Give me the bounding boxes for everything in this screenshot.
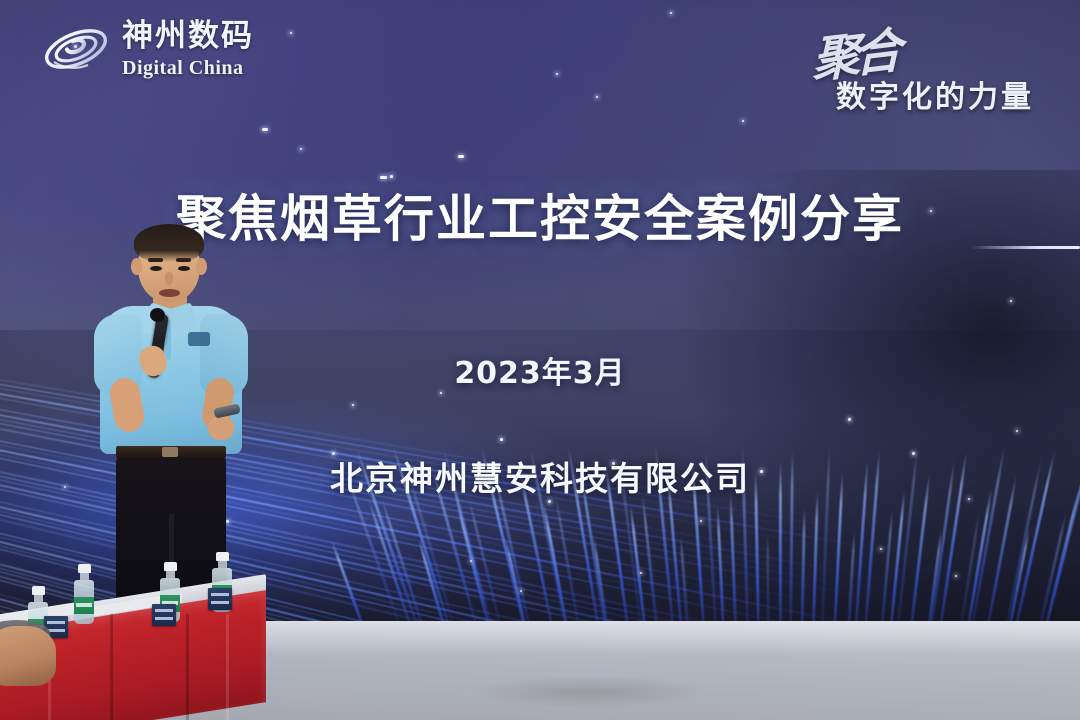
cloth-fold	[226, 614, 229, 720]
speaker-ear-left	[131, 258, 142, 275]
speaker-nose	[165, 272, 173, 285]
water-bottle	[74, 564, 94, 624]
event-tagline: 数字化的力量	[836, 72, 1034, 116]
speaker-mouth	[159, 289, 180, 297]
light-particle	[300, 148, 302, 150]
bottle-neck	[34, 595, 43, 602]
light-streak	[729, 492, 738, 630]
bottle-cap	[78, 564, 91, 573]
digital-china-wordmark: 神州数码 Digital China	[122, 21, 254, 78]
name-card	[208, 588, 232, 610]
light-streak	[800, 507, 806, 630]
light-particle	[458, 155, 464, 158]
light-particle	[290, 32, 292, 34]
bottle-label	[74, 597, 94, 614]
light-particle	[440, 392, 442, 394]
light-streak	[716, 505, 726, 630]
cloth-fold	[110, 614, 113, 720]
light-particle	[556, 73, 558, 75]
name-card	[152, 604, 176, 626]
speaker-brow-left	[148, 258, 163, 262]
light-particle	[1016, 430, 1018, 432]
speaker-ear-right	[196, 258, 207, 275]
light-particle	[262, 128, 268, 131]
light-particle	[352, 404, 354, 406]
speaker-eye-left	[150, 266, 162, 271]
light-particle	[1010, 300, 1012, 302]
shirt-logo-icon	[188, 332, 210, 346]
light-particle	[700, 520, 702, 522]
belt-buckle-icon	[162, 447, 178, 457]
light-streak	[330, 539, 370, 630]
digital-china-swirl-icon	[40, 18, 112, 80]
light-particle	[548, 500, 551, 503]
event-logo: 聚合 数字化的力量	[794, 14, 1062, 116]
speaker-eye-right	[178, 266, 190, 271]
bottle-cap	[32, 586, 45, 595]
speaker-brow-right	[176, 258, 191, 262]
cloth-fold	[186, 614, 189, 720]
floor-shadow	[420, 669, 760, 715]
light-particle	[596, 96, 598, 98]
brand-name-cn: 神州数码	[122, 21, 254, 52]
light-particle	[880, 548, 882, 550]
light-particle	[520, 590, 522, 592]
bottle-neck	[166, 571, 175, 578]
digital-china-logo: 神州数码 Digital China	[40, 18, 254, 80]
light-particle	[640, 572, 642, 574]
light-particle	[390, 175, 393, 178]
speaker-hair	[134, 224, 204, 262]
audience-member	[0, 626, 56, 686]
light-particle	[848, 418, 851, 421]
light-particle	[742, 120, 744, 122]
bottle-neck	[80, 573, 89, 580]
light-particle	[670, 12, 672, 14]
conference-photo: 神州数码 Digital China 聚合 数字化的力量 聚焦烟草行业工控安全案…	[0, 0, 1080, 720]
light-particle	[955, 575, 957, 577]
light-particle	[470, 560, 472, 562]
brand-name-en: Digital China	[122, 58, 254, 78]
bottle-cap	[216, 552, 229, 561]
bottle-body	[74, 580, 94, 624]
light-streak	[766, 532, 770, 630]
light-streak	[811, 491, 819, 630]
light-particle	[500, 438, 503, 441]
speaker-presenter	[96, 228, 246, 600]
bottle-cap	[164, 562, 177, 571]
bottle-neck	[218, 561, 227, 568]
light-streak	[641, 494, 660, 630]
speaker-hand-right	[208, 416, 234, 440]
